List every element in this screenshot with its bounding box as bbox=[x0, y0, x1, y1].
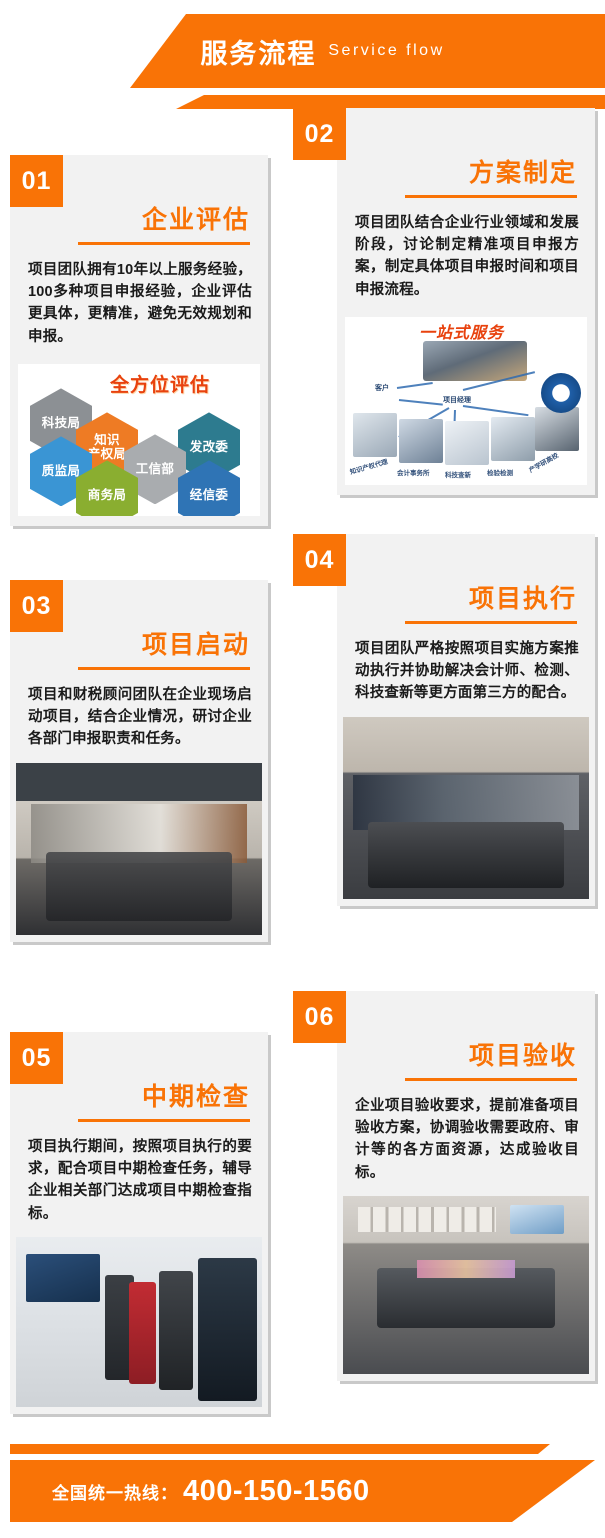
step-badge-03: 03 bbox=[10, 580, 63, 632]
card-body-01: 项目团队拥有10年以上服务经验，100多种项目申报经验，企业评估更具体，更精准，… bbox=[10, 245, 268, 361]
card-title-04: 项目执行 bbox=[337, 586, 595, 614]
step-card-06[interactable]: 项目验收 企业项目验收要求，提前准备项目验收方案，协调验收需要政府、审计等的各方… bbox=[337, 991, 595, 1381]
step-card-05[interactable]: 中期检查 项目执行期间，按照项目执行的要求，配合项目中期检查任务，辅导企业相关部… bbox=[10, 1032, 268, 1414]
card-title-02: 方案制定 bbox=[337, 160, 595, 188]
hotline-group: 全国统一热线： 400-150-1560 bbox=[52, 1460, 370, 1522]
step-badge-04: 04 bbox=[293, 534, 346, 586]
card-body-04: 项目团队严格按照项目实施方案推动执行并协助解决会计师、检测、科技查新等更方面第三… bbox=[337, 624, 595, 717]
step-badge-01: 01 bbox=[10, 155, 63, 207]
service-branch-label-1: 会计事务所 bbox=[397, 467, 430, 477]
card-title-03: 项目启动 bbox=[10, 632, 268, 660]
step-card-03[interactable]: 项目启动 项目和财税顾问团队在企业现场启动项目，结合企业情况，研讨企业各部门申报… bbox=[10, 580, 268, 942]
service-arrow-3 bbox=[463, 405, 529, 416]
footer-banner-accent bbox=[10, 1444, 595, 1454]
conference-room-photo bbox=[16, 763, 262, 935]
service-thumb-1 bbox=[399, 419, 443, 463]
step-card-02[interactable]: 方案制定 项目团队结合企业行业领域和发展阶段，讨论制定精准项目申报方案，制定具体… bbox=[337, 108, 595, 495]
hotline-label: 全国统一热线： bbox=[52, 1479, 178, 1504]
service-branch-label-0: 知识产权代理 bbox=[348, 456, 388, 476]
step-card-01[interactable]: 企业评估 项目团队拥有10年以上服务经验，100多种项目申报经验，企业评估更具体… bbox=[10, 155, 268, 526]
step-badge-05: 05 bbox=[10, 1032, 63, 1084]
meeting-table-photo bbox=[343, 717, 589, 899]
service-thumb-0 bbox=[353, 413, 397, 457]
card-body-02: 项目团队结合企业行业领域和发展阶段，讨论制定精准项目申报方案，制定具体项目申报时… bbox=[337, 198, 595, 314]
header-banner-accent bbox=[0, 95, 605, 109]
service-arrow-0 bbox=[397, 382, 433, 389]
step-card-04[interactable]: 项目执行 项目团队严格按照项目实施方案推动执行并协助解决会计师、检测、科技查新等… bbox=[337, 534, 595, 906]
hexagon-assessment-chart: 全方位评估 科技局 知识 产权局 发改委 质监局 工信部 商务局 经信委 bbox=[18, 364, 260, 516]
lobby-visit-photo bbox=[16, 1237, 262, 1407]
step-badge-06: 06 bbox=[293, 991, 346, 1043]
service-arrow-1 bbox=[399, 399, 443, 406]
service-thumb-3 bbox=[491, 417, 535, 461]
card-title-05: 中期检查 bbox=[10, 1084, 268, 1112]
page-subtitle: Service flow bbox=[328, 42, 444, 60]
card-body-06: 企业项目验收要求，提前准备项目验收方案，协调验收需要政府、审计等的各方面资源，达… bbox=[337, 1081, 595, 1197]
service-branch-label-2: 科技查新 bbox=[445, 469, 471, 479]
large-meeting-photo bbox=[343, 1196, 589, 1374]
service-center-label-1: 项目经理 bbox=[443, 395, 471, 405]
card-body-03: 项目和财税顾问团队在企业现场启动项目，结合企业情况，研讨企业各部门申报职责和任务… bbox=[10, 670, 268, 763]
step-badge-02: 02 bbox=[293, 108, 346, 160]
service-center-label-0: 客户 bbox=[375, 383, 389, 393]
service-thumb-2 bbox=[445, 421, 489, 465]
service-hero-photo bbox=[423, 341, 527, 381]
hex-chart-title: 全方位评估 bbox=[110, 370, 210, 397]
one-stop-service-diagram: 一站式服务 客户 项目经理 ISO 知识产权代理 会计事务所 科技查新 检验检测… bbox=[345, 317, 587, 485]
hotline-number[interactable]: 400-150-1560 bbox=[183, 1475, 370, 1508]
card-body-05: 项目执行期间，按照项目执行的要求，配合项目中期检查任务，辅导企业相关部门达成项目… bbox=[10, 1122, 268, 1238]
card-title-01: 企业评估 bbox=[10, 207, 268, 235]
service-diagram-title: 一站式服务 bbox=[419, 319, 504, 343]
page-footer: 全国统一热线： 400-150-1560 bbox=[0, 1424, 605, 1538]
page-title: 服务流程 bbox=[200, 32, 316, 71]
card-title-06: 项目验收 bbox=[337, 1043, 595, 1071]
service-thumb-4 bbox=[535, 407, 579, 451]
service-branch-label-3: 检验检测 bbox=[487, 467, 513, 477]
header-title-group: 服务流程 Service flow bbox=[0, 14, 605, 88]
